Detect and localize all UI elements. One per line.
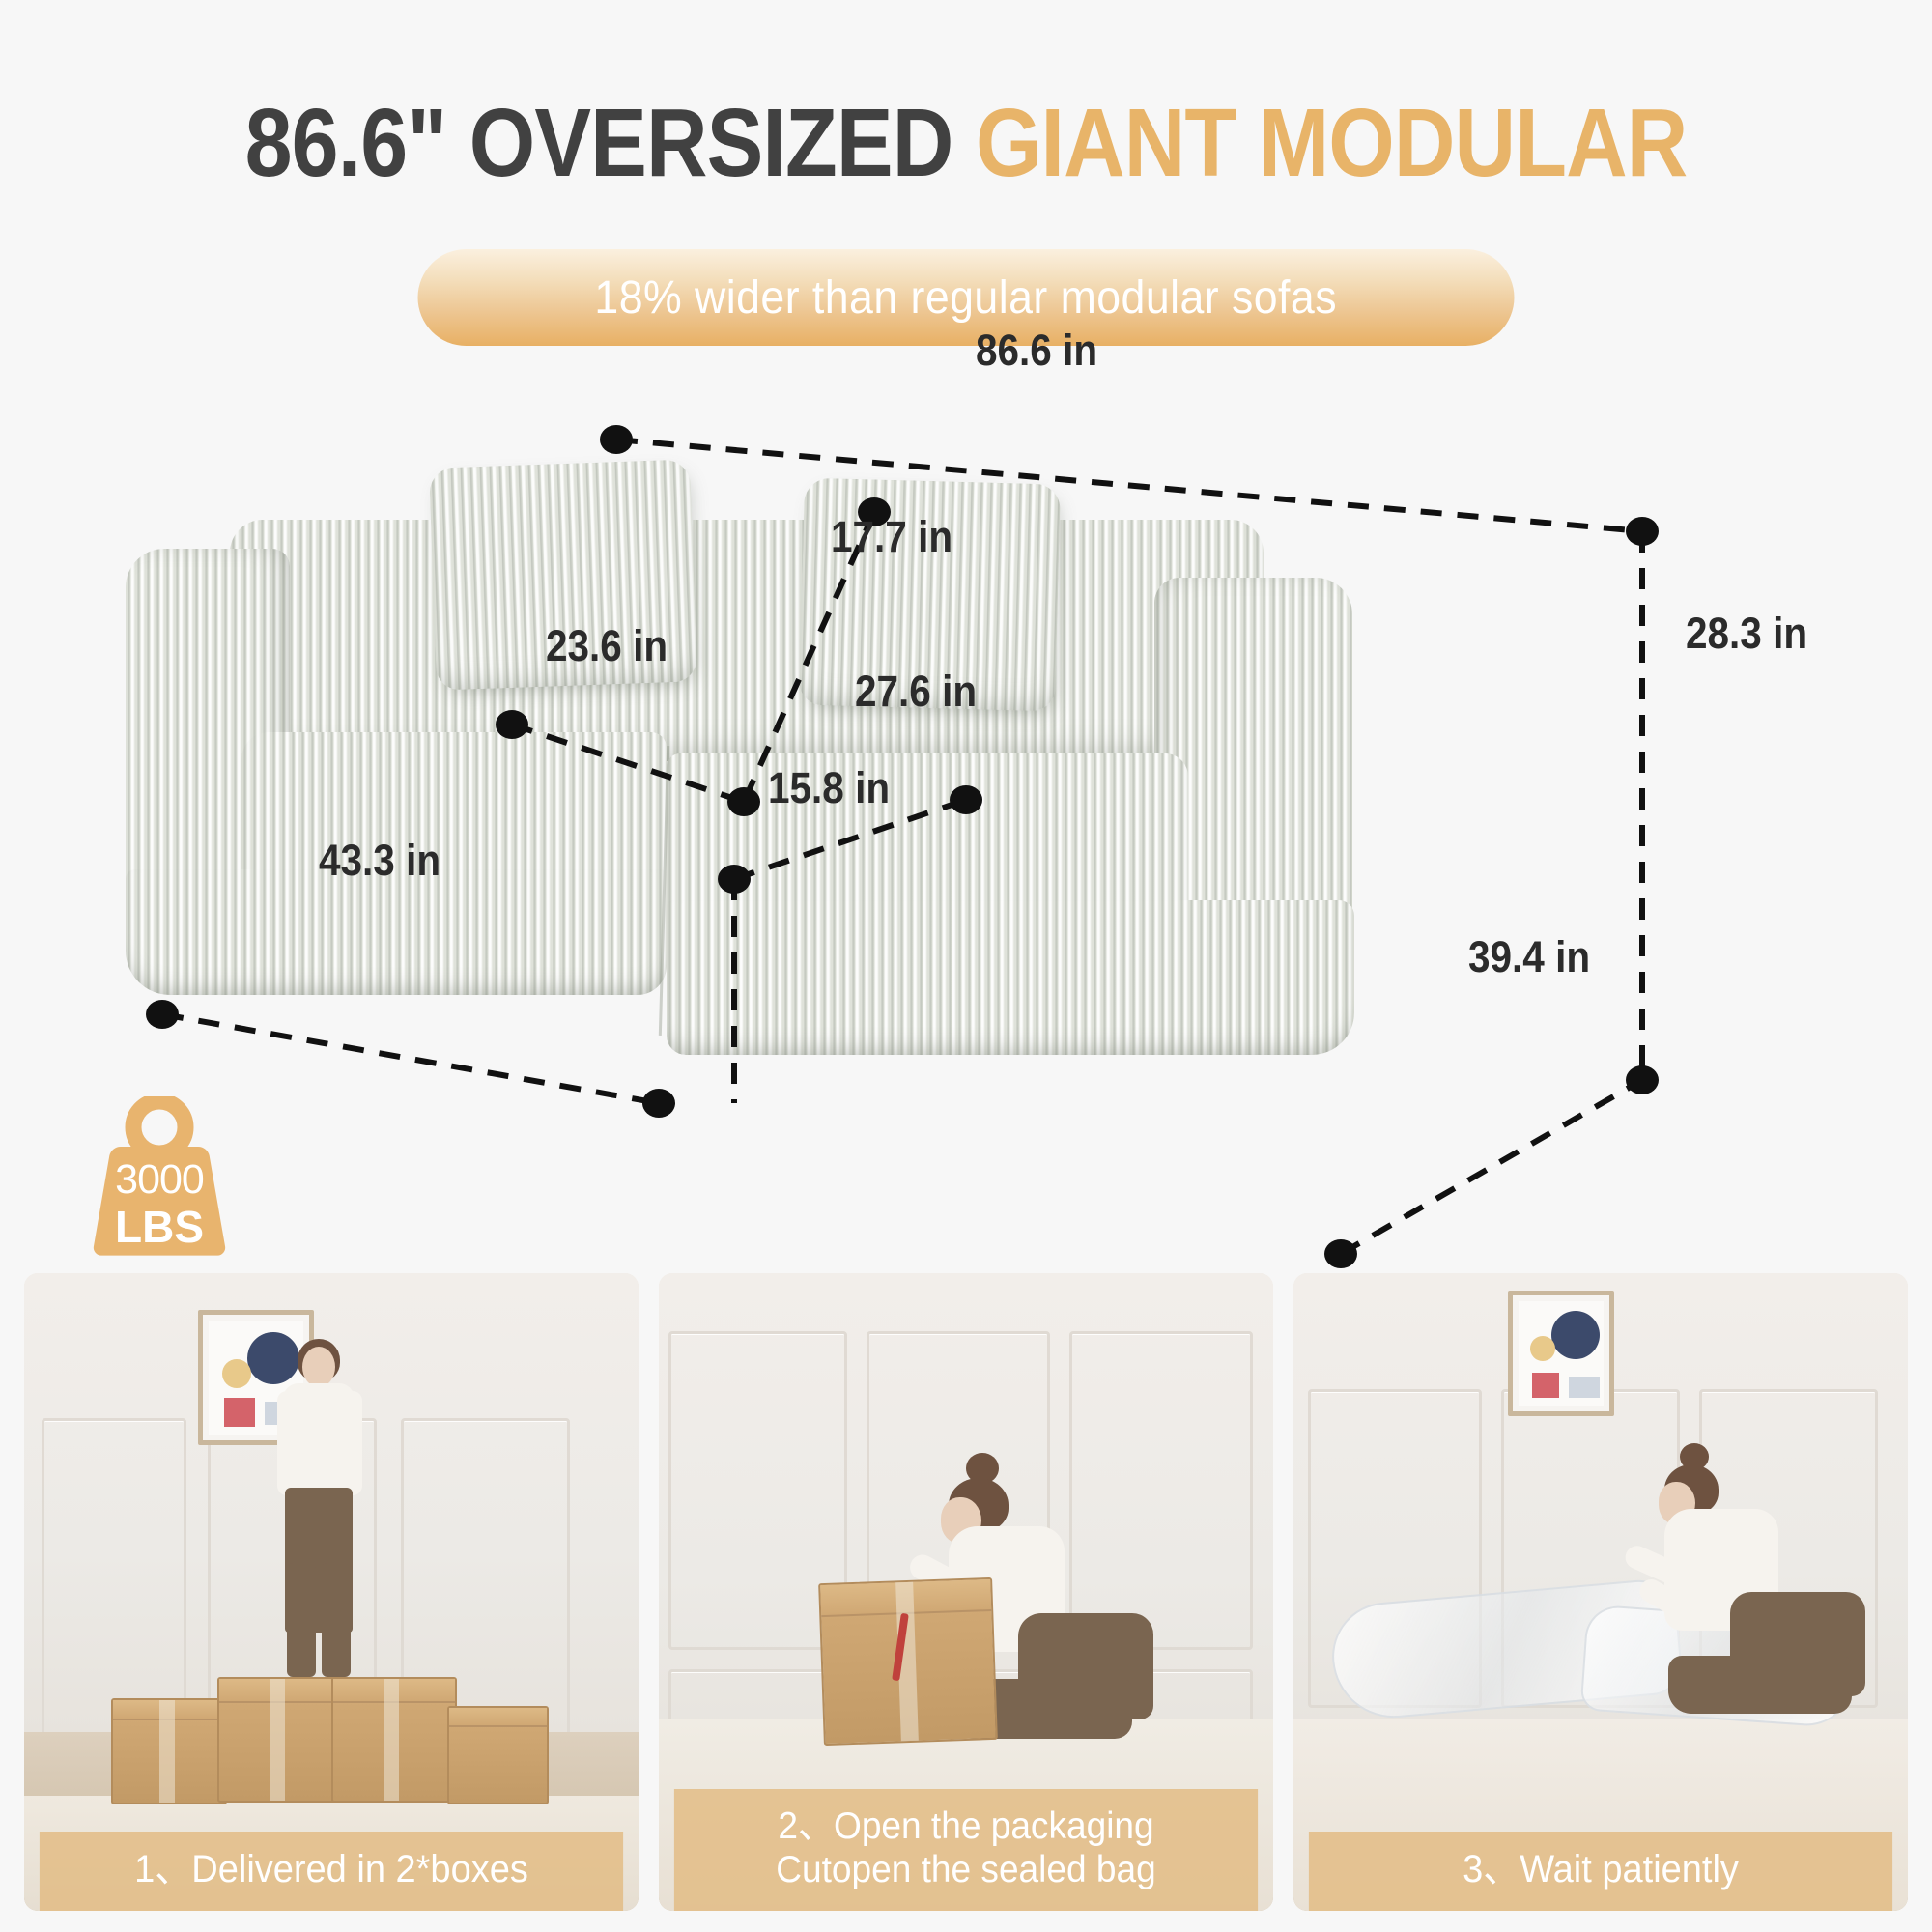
title-primary: 86.6" OVERSIZED [245, 89, 976, 197]
dim-label-overall-height: 28.3 in [1686, 609, 1807, 659]
header-section: 86.6" OVERSIZED GIANT MODULAR 18% wider … [0, 0, 1932, 386]
dim-label-seat-height: 15.8 in [768, 763, 890, 813]
dim-label-seat-width: 27.6 in [855, 667, 977, 717]
dim-label-backrest-height: 17.7 in [831, 512, 952, 562]
dim-label-module-width: 43.3 in [319, 836, 440, 886]
dim-label-width-total: 86.6 in [976, 326, 1097, 376]
subtitle-text: 18% wider than regular modular sofas [595, 271, 1338, 325]
step-caption-1: 1、Delivered in 2*boxes [40, 1832, 623, 1911]
step-panel-1: 1、Delivered in 2*boxes [24, 1273, 639, 1911]
steps-section: 1、Delivered in 2*boxes 2、Open the packag… [0, 1273, 1932, 1932]
framed-artwork [1508, 1291, 1614, 1416]
step-caption-2: 2、Open the packaging Cutopen the sealed … [674, 1789, 1258, 1911]
weight-value: 3000 [92, 1156, 227, 1204]
wall-molding [42, 1418, 186, 1737]
dim-label-cushion-depth: 23.6 in [546, 621, 668, 671]
weight-capacity-badge: 3000 LBS [92, 1096, 227, 1256]
step-caption-3: 3、Wait patiently [1309, 1832, 1892, 1911]
step-panel-2: 2、Open the packaging Cutopen the sealed … [659, 1273, 1273, 1911]
title-accent: GIANT MODULAR [976, 89, 1687, 197]
weight-unit: LBS [92, 1201, 227, 1253]
dimension-lines [0, 386, 1932, 1285]
dim-label-overall-depth: 39.4 in [1468, 932, 1590, 982]
page-title: 86.6" OVERSIZED GIANT MODULAR [116, 93, 1816, 194]
sofa-diagram-section: 86.6 in 17.7 in 23.6 in 27.6 in 15.8 in … [0, 386, 1932, 1285]
wall-molding [1069, 1331, 1253, 1650]
shipping-box [818, 1577, 998, 1746]
subtitle-badge: 18% wider than regular modular sofas [418, 249, 1515, 346]
step-panel-3: 3、Wait patiently [1293, 1273, 1908, 1911]
